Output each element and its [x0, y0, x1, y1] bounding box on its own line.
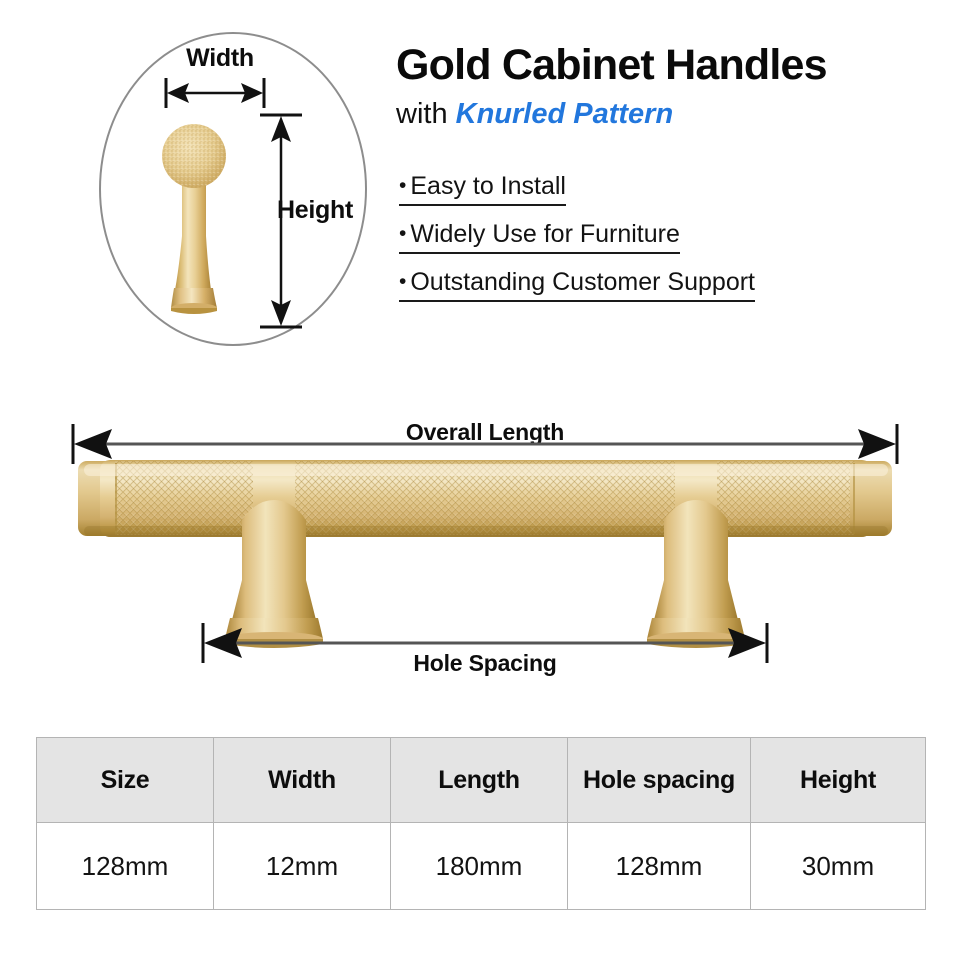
feature-label: Easy to Install: [410, 172, 566, 200]
specification-table: Size Width Length Hole spacing Height 12…: [36, 737, 926, 910]
list-item: •Outstanding Customer Support: [399, 268, 944, 316]
column-header-length: Length: [391, 738, 568, 823]
height-dimension-arrow: [252, 112, 308, 330]
column-header-size: Size: [37, 738, 214, 823]
feature-label: Widely Use for Furniture: [410, 220, 680, 248]
cell-width: 12mm: [214, 823, 391, 910]
feature-text-wrapper: •Easy to Install: [399, 172, 566, 206]
page-title: Gold Cabinet Handles: [396, 44, 948, 88]
infographic-page: Width Height: [0, 0, 960, 960]
bullet-dot-icon: •: [399, 270, 406, 293]
subtitle-accent: Knurled Pattern: [456, 98, 674, 130]
list-item: •Easy to Install: [399, 172, 944, 220]
cell-height: 30mm: [751, 823, 926, 910]
cell-size: 128mm: [37, 823, 214, 910]
bullet-dot-icon: •: [399, 174, 406, 197]
bullet-dot-icon: •: [399, 222, 406, 245]
column-header-hole-spacing: Hole spacing: [568, 738, 751, 823]
subtitle-prefix: with: [396, 98, 456, 130]
column-header-height: Height: [751, 738, 926, 823]
inset-width-label: Width: [160, 44, 280, 73]
overall-length-dimension: [73, 424, 897, 464]
width-dimension-arrow: [163, 76, 267, 114]
table-header-row: Size Width Length Hole spacing Height: [37, 738, 926, 823]
feature-list: •Easy to Install •Widely Use for Furnitu…: [399, 172, 944, 316]
cell-hole-spacing: 128mm: [568, 823, 751, 910]
feature-text-wrapper: •Outstanding Customer Support: [399, 268, 755, 302]
feature-text-wrapper: •Widely Use for Furniture: [399, 220, 680, 254]
feature-label: Outstanding Customer Support: [410, 268, 755, 296]
cell-length: 180mm: [391, 823, 568, 910]
knob-side-view-illustration: [155, 118, 255, 318]
column-header-width: Width: [214, 738, 391, 823]
list-item: •Widely Use for Furniture: [399, 220, 944, 268]
table-row: 128mm 12mm 180mm 128mm 30mm: [37, 823, 926, 910]
title-block: Gold Cabinet Handles with Knurled Patter…: [396, 44, 948, 129]
handle-dimension-illustration: [60, 408, 910, 693]
page-subtitle: with Knurled Pattern: [396, 99, 948, 129]
